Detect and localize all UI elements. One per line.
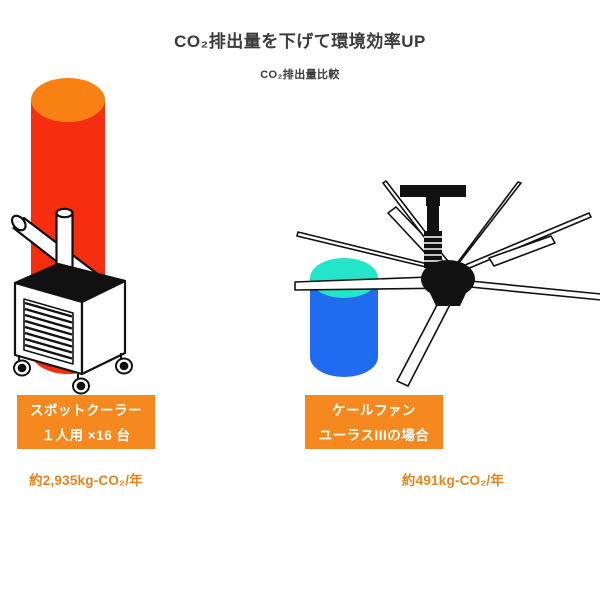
label-line-2: １人用 ×16 台 — [17, 423, 155, 448]
label-line-1: ケールファン — [305, 398, 443, 423]
label-line-2: ユーラスIIIの場合 — [305, 423, 443, 448]
kale-fan-graphic — [300, 0, 600, 390]
infographic-canvas: CO₂排出量を下げて環境効率UP CO₂排出量比較 — [0, 0, 600, 600]
bar-cylinder-blue — [310, 258, 378, 377]
hvls-ceiling-fan-illustration — [300, 0, 600, 390]
bar-cylinder-blue-top — [310, 258, 378, 298]
column-kale-fan: ケールファン ユーラスIIIの場合 約491kg-CO₂/年 — [300, 0, 600, 600]
spot-cooler-device — [9, 209, 132, 394]
caption-spot-cooler: 約2,935kg-CO₂/年 — [0, 469, 176, 489]
bar-cylinder-red-top — [31, 78, 105, 122]
label-box-kale-fan: ケールファン ユーラスIIIの場合 — [305, 395, 443, 449]
label-line-1: スポットクーラー — [17, 398, 155, 423]
label-box-spot-cooler: スポットクーラー １人用 ×16 台 — [17, 395, 155, 449]
fan-blade-right-lower — [460, 280, 600, 300]
column-spot-cooler: スポットクーラー １人用 ×16 台 約2,935kg-CO₂/年 — [0, 0, 300, 600]
caption-kale-fan: 約491kg-CO₂/年 — [363, 469, 543, 489]
fan-hub — [421, 260, 475, 306]
fan-blade-right-upper — [458, 213, 591, 272]
